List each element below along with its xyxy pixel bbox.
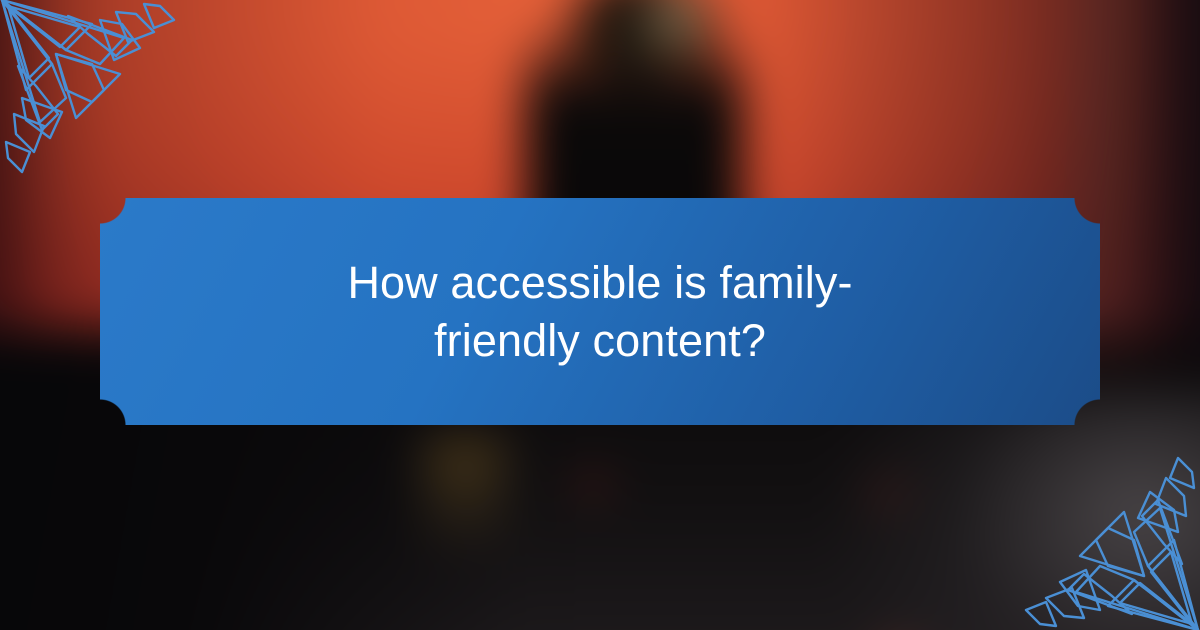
background-red-light-left bbox=[566, 466, 620, 504]
background-red-light-right bbox=[858, 473, 919, 514]
page-title: How accessible is family-friendly conten… bbox=[280, 254, 920, 369]
headline-card: How accessible is family-friendly conten… bbox=[100, 198, 1100, 425]
background-warm-accent bbox=[424, 435, 505, 570]
social-card-canvas: How accessible is family-friendly conten… bbox=[0, 0, 1200, 630]
